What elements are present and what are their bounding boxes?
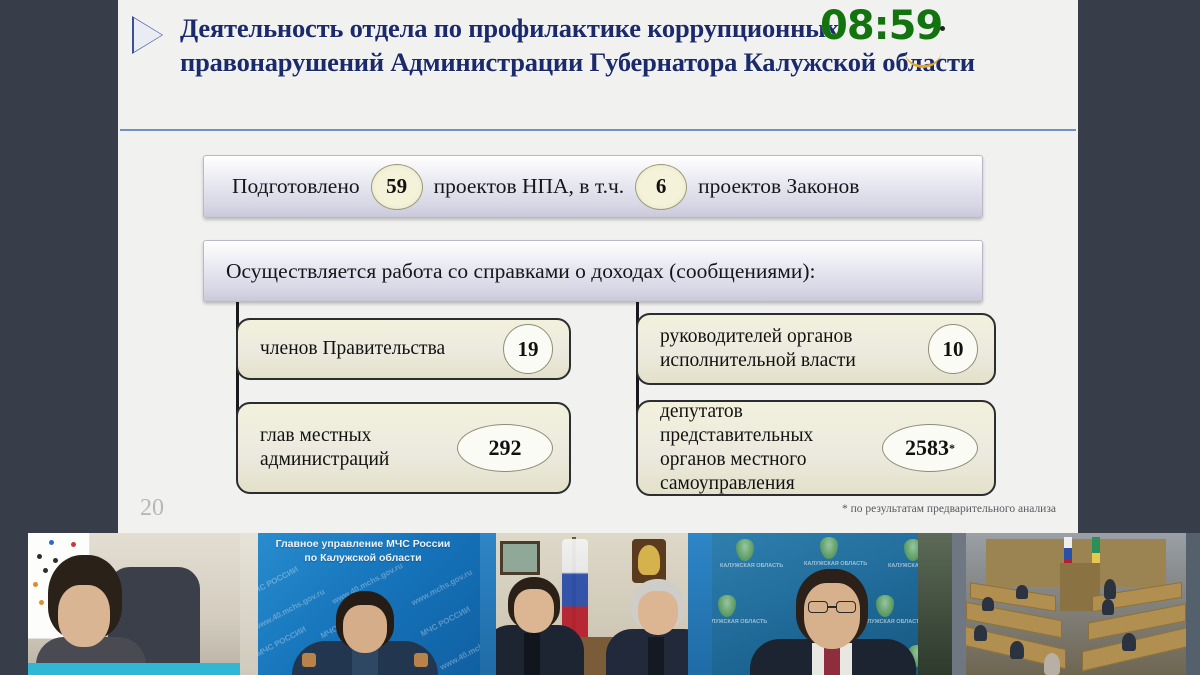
participant-face	[58, 585, 110, 647]
video-tile-governor[interactable]: КАЛУЖСКАЯ ОБЛАСТЬ КАЛУЖСКАЯ ОБЛАСТЬ КАЛУ…	[712, 533, 952, 675]
prepared-count-59: 59	[371, 164, 423, 210]
box-local-administration-heads: глав местных администраций 292	[236, 402, 571, 494]
prepared-label-2: проектов НПА, в т.ч.	[428, 174, 631, 199]
hall-attendee	[1104, 579, 1116, 599]
tile-edge-right	[688, 533, 712, 675]
hall-attendee	[1102, 599, 1114, 615]
video-tile-emercom-officer[interactable]: Главное управление МЧС России по Калужск…	[240, 533, 480, 675]
prepared-label-1: Подготовлено	[226, 174, 366, 199]
hall-attendee	[982, 597, 994, 611]
tile-edge-left	[952, 533, 966, 675]
box-government-members: членов Правительства 19	[236, 318, 571, 380]
video-tile-participant-woman-office[interactable]	[0, 533, 240, 675]
hall-attendee	[974, 625, 987, 641]
glasses-icon	[808, 601, 828, 613]
countdown-timer: 08:59	[820, 6, 942, 46]
governor-face	[804, 583, 860, 649]
income-declarations-label: Осуществляется работа со справками о дох…	[226, 259, 816, 284]
tile-edge-left	[240, 533, 258, 675]
wall-picture	[500, 541, 540, 575]
box-local-deputies: депутатов представительных органов местн…	[636, 400, 996, 496]
box-executive-heads: руководителей органов исполнительной вла…	[636, 313, 996, 385]
box-local-administration-heads-label: глав местных администраций	[260, 424, 389, 472]
backdrop-label: КАЛУЖСКАЯ ОБЛАСТЬ	[860, 619, 912, 625]
box-executive-heads-label: руководителей органов исполнительной вла…	[660, 325, 856, 373]
tile-edge-left	[480, 533, 496, 675]
hall-attendee	[1010, 641, 1024, 659]
glasses-bridge	[827, 606, 837, 608]
governor-tie	[824, 645, 840, 675]
tile-accent-bar	[28, 663, 240, 675]
timer-dot-icon	[940, 26, 945, 31]
video-participants-strip: Главное управление МЧС России по Калужск…	[0, 533, 1200, 675]
title-divider	[120, 129, 1076, 131]
officer-face	[343, 605, 387, 653]
prepared-acts-banner: Подготовлено 59 проектов НПА, в т.ч. 6 п…	[203, 155, 983, 218]
presentation-slide: Деятельность отдела по профилактике корр…	[118, 0, 1078, 533]
hall-attendee	[1044, 653, 1060, 675]
box-government-members-label: членов Правительства	[260, 337, 445, 361]
hall-attendee	[1016, 585, 1028, 599]
box-local-deputies-label: депутатов представительных органов местн…	[660, 400, 882, 495]
prepared-count-6: 6	[635, 164, 687, 210]
shoulder-patch-left	[302, 653, 316, 667]
slide-page-number: 20	[140, 495, 164, 522]
prepared-label-3: проектов Законов	[692, 174, 865, 199]
backdrop-label: КАЛУЖСКАЯ ОБЛАСТЬ	[712, 619, 756, 625]
video-tile-conference-hall[interactable]	[952, 533, 1200, 675]
box-local-administration-heads-value: 292	[457, 424, 553, 472]
box-local-deputies-value: 2583*	[882, 424, 978, 472]
official-2-face	[638, 591, 678, 635]
backdrop-label: КАЛУЖСКАЯ ОБЛАСТЬ	[804, 561, 856, 567]
video-tile-two-officials[interactable]	[480, 533, 712, 675]
tile-edge-right	[1186, 533, 1200, 675]
official-1-tie	[524, 633, 540, 675]
tile-edge-right	[918, 533, 952, 675]
shoulder-patch-right	[414, 653, 428, 667]
backdrop-label: КАЛУЖСКАЯ ОБЛАСТЬ	[720, 563, 772, 569]
tile-letterbox-left	[0, 533, 28, 675]
box-government-members-value: 19	[503, 324, 553, 374]
box-local-deputies-asterisk: *	[949, 441, 955, 456]
income-declarations-banner: Осуществляется работа со справками о дох…	[203, 240, 983, 302]
hall-attendee	[1122, 633, 1136, 651]
double-eagle-icon	[638, 545, 660, 575]
box-executive-heads-value: 10	[928, 324, 978, 374]
app-root: Деятельность отдела по профилактике корр…	[0, 0, 1200, 675]
official-1-face	[514, 589, 554, 633]
slide-footnote: * по результатам предварительного анализ…	[842, 503, 1056, 515]
official-2-tie	[648, 637, 664, 675]
emercom-banner-text: Главное управление МЧС России по Калужск…	[246, 537, 480, 565]
triangle-play-icon	[118, 8, 168, 54]
glasses-icon	[836, 601, 856, 613]
